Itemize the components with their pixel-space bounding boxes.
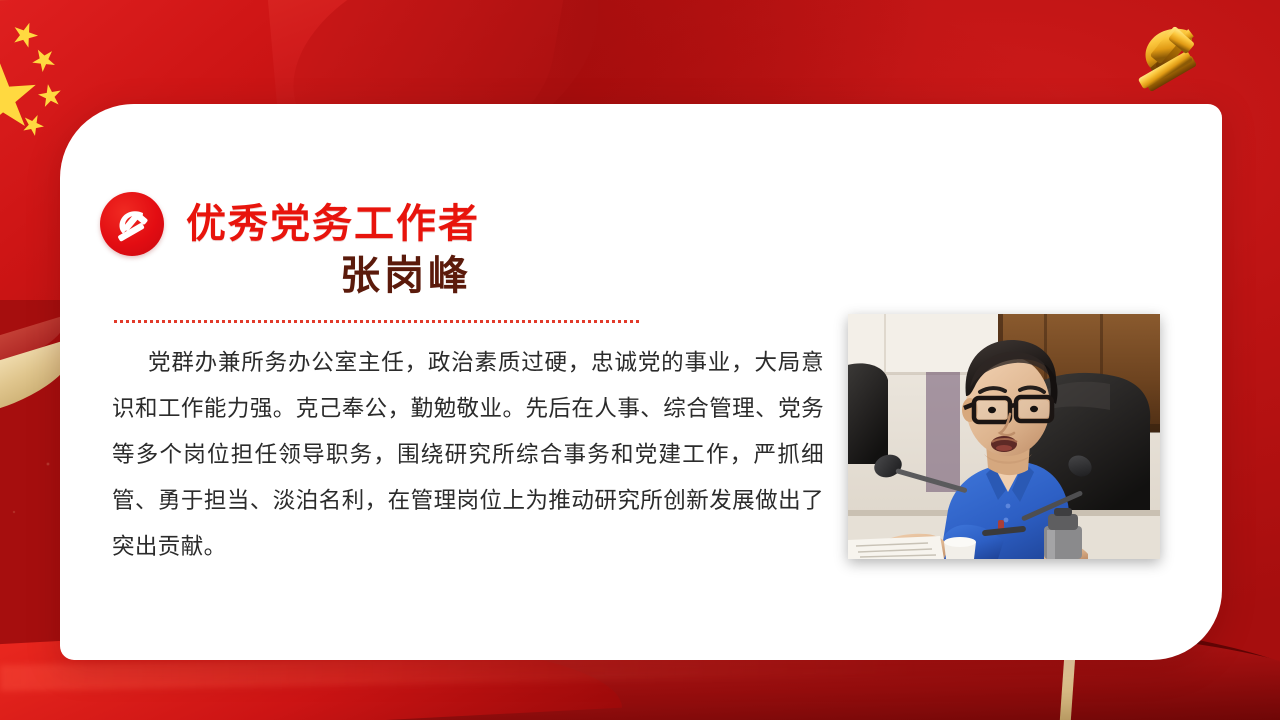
page-title: 优秀党务工作者 bbox=[186, 204, 480, 244]
party-emblem-circle-icon bbox=[100, 192, 164, 256]
person-photo bbox=[848, 314, 1160, 559]
party-emblem-hammer-sickle-icon bbox=[1122, 18, 1214, 96]
slide-root: 优秀党务工作者 张岗峰 党群办兼所务办公室主任，政治素质过硬，忠诚党的事业，大局… bbox=[0, 0, 1280, 720]
content-card: 优秀党务工作者 张岗峰 党群办兼所务办公室主任，政治素质过硬，忠诚党的事业，大局… bbox=[60, 104, 1222, 660]
dotted-divider bbox=[114, 320, 642, 323]
person-name: 张岗峰 bbox=[340, 256, 472, 296]
header-row: 优秀党务工作者 bbox=[100, 192, 480, 256]
biography-text: 党群办兼所务办公室主任，政治素质过硬，忠诚党的事业，大局意识和工作能力强。克己奉… bbox=[112, 340, 824, 570]
